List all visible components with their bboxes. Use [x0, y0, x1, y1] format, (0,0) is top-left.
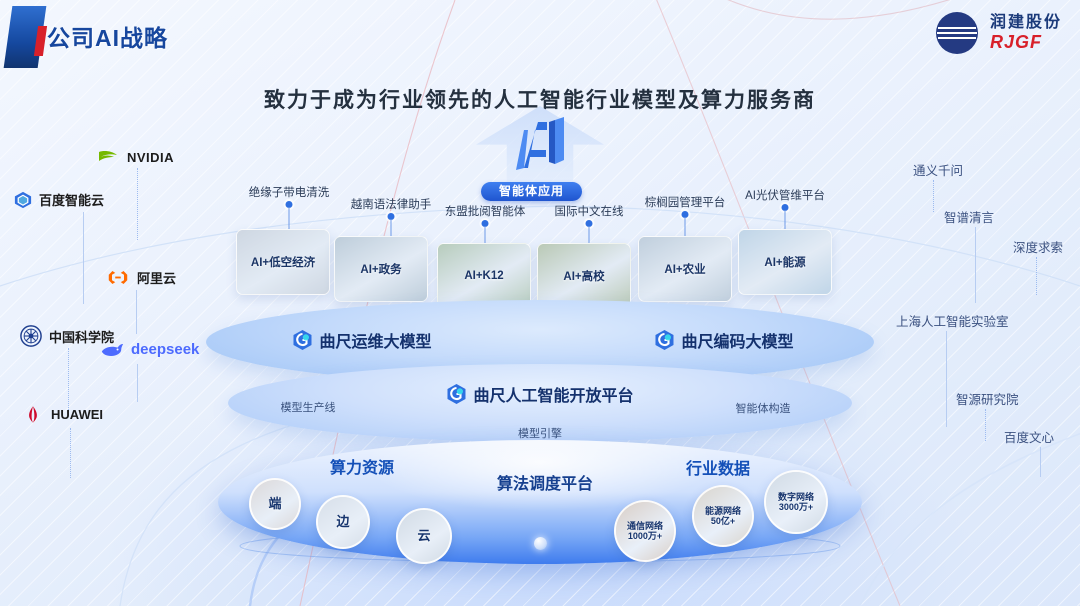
- brand-name-cn: 润建股份: [990, 15, 1062, 31]
- brand-name-en: RJGF: [990, 33, 1062, 51]
- data-node-name: 能源网络: [705, 506, 741, 516]
- card-caption: AI+政务: [360, 261, 401, 277]
- partner-connector-line: [1036, 257, 1037, 295]
- partner-connector-line: [137, 364, 138, 402]
- model-ops-label[interactable]: 曲尺运维大模型: [292, 328, 431, 352]
- feature-agent-builder[interactable]: 智能体构造: [736, 400, 791, 416]
- partner-logo-nvidia[interactable]: NVIDIA: [96, 148, 174, 166]
- open-platform-text: 曲尺人工智能开放平台: [473, 382, 633, 406]
- data-node-label: 通信网络1000万+: [627, 521, 663, 542]
- feature-model-production-line[interactable]: 模型生产线: [281, 399, 336, 415]
- card-caption: AI+农业: [664, 261, 705, 277]
- aliyun-icon: [106, 269, 130, 286]
- compute-node-label: 云: [417, 529, 430, 544]
- partner-logo-huawei[interactable]: HUAWEI: [22, 405, 103, 424]
- data-node-name: 数字网络: [778, 492, 814, 502]
- model-code-label[interactable]: 曲尺编码大模型: [654, 328, 793, 352]
- partner-name: 百度智能云: [39, 190, 104, 209]
- company-logo: 润建股份 RJGF: [933, 9, 1062, 57]
- partner-item[interactable]: 百度文心: [1004, 427, 1054, 446]
- compute-node[interactable]: 云: [396, 508, 452, 564]
- page-title: 公司AI战略: [47, 19, 168, 53]
- partner-connector-line: [985, 409, 986, 441]
- quchi-hex-icon: [292, 329, 312, 351]
- partner-connector-line: [1040, 447, 1041, 477]
- partner-item[interactable]: 通义千问: [913, 160, 963, 179]
- partner-name: HUAWEI: [51, 407, 103, 422]
- card-caption: AI+低空经济: [251, 254, 315, 270]
- application-label[interactable]: 越南语法律助手: [351, 196, 432, 212]
- deepseek-whale-icon: [100, 341, 124, 358]
- data-node-value: 1000万+: [627, 531, 663, 541]
- cas-logo-icon: [20, 325, 42, 347]
- compute-node[interactable]: 边: [316, 495, 370, 549]
- data-node-label: 数字网络3000万+: [778, 492, 814, 513]
- application-label[interactable]: AI光伏管维平台: [745, 187, 825, 203]
- ai-3d-logo-icon: [502, 112, 576, 178]
- partner-name: 阿里云: [137, 268, 176, 287]
- partner-connector-line: [83, 212, 84, 304]
- application-label[interactable]: 棕榈园管理平台: [645, 194, 726, 210]
- partner-connector-line: [946, 331, 947, 427]
- nvidia-logo-icon: [96, 148, 120, 166]
- partner-connector-line: [68, 348, 69, 410]
- partner-item[interactable]: 上海人工智能实验室: [896, 311, 1009, 330]
- data-node[interactable]: 数字网络3000万+: [764, 470, 828, 534]
- partner-item[interactable]: 深度求索: [1013, 237, 1063, 256]
- application-card[interactable]: AI+农业: [638, 236, 732, 302]
- compute-resource-title: 算力资源: [330, 454, 394, 478]
- partner-logo-阿里云[interactable]: 阿里云: [106, 268, 176, 287]
- card-caption: AI+K12: [464, 270, 503, 282]
- slide-canvas: 公司AI战略 润建股份 RJGF 致力于成为行业领先的人工智能行业模型及算力服务…: [0, 0, 1080, 606]
- card-caption: AI+高校: [563, 268, 604, 284]
- rjgf-globe-icon: [933, 9, 981, 57]
- application-card[interactable]: AI+低空经济: [236, 229, 330, 295]
- compute-node-label: 端: [268, 497, 281, 512]
- model-ops-text: 曲尺运维大模型: [319, 328, 431, 352]
- partner-logo-deepseek[interactable]: deepseek: [100, 341, 199, 358]
- feature-model-engine[interactable]: 模型引擎: [518, 425, 562, 441]
- data-node-value: 3000万+: [778, 502, 814, 512]
- baidu-cloud-icon: [14, 191, 32, 209]
- pill-agent-application[interactable]: 智能体应用: [481, 182, 582, 201]
- data-node-label: 能源网络50亿+: [705, 506, 741, 527]
- application-card[interactable]: AI+政务: [334, 236, 428, 302]
- open-platform-title[interactable]: 曲尺人工智能开放平台: [446, 382, 633, 406]
- partner-connector-line: [70, 428, 71, 478]
- partner-item[interactable]: 智源研究院: [956, 389, 1019, 408]
- data-node-name: 通信网络: [627, 521, 663, 531]
- compute-node[interactable]: 端: [249, 478, 301, 530]
- card-caption: AI+能源: [764, 254, 805, 270]
- partner-connector-line: [933, 180, 934, 212]
- partner-name: deepseek: [131, 341, 199, 358]
- quchi-hex-icon: [446, 383, 466, 405]
- application-label[interactable]: 东盟批阅智能体: [445, 203, 526, 219]
- scheduler-title: 算法调度平台: [497, 470, 593, 494]
- partner-connector-line: [975, 227, 976, 303]
- partner-logo-百度智能云[interactable]: 百度智能云: [14, 190, 104, 209]
- quchi-hex-icon: [654, 329, 674, 351]
- data-node[interactable]: 通信网络1000万+: [614, 500, 676, 562]
- partner-connector-line: [137, 168, 138, 240]
- application-card[interactable]: AI+能源: [738, 229, 832, 295]
- center-glow-dot: [534, 537, 547, 550]
- partner-name: NVIDIA: [127, 150, 174, 165]
- model-code-text: 曲尺编码大模型: [681, 328, 793, 352]
- huawei-logo-icon: [22, 405, 44, 424]
- partner-connector-line: [136, 290, 137, 334]
- application-label[interactable]: 国际中文在线: [555, 203, 624, 219]
- data-node[interactable]: 能源网络50亿+: [692, 485, 754, 547]
- partner-item[interactable]: 智谱清言: [944, 207, 994, 226]
- data-node-value: 50亿+: [705, 516, 741, 526]
- industry-data-title: 行业数据: [686, 455, 750, 479]
- compute-node-label: 边: [336, 515, 349, 530]
- application-label[interactable]: 绝缘子带电清洗: [249, 184, 330, 200]
- up-arrow-shape: [476, 106, 604, 190]
